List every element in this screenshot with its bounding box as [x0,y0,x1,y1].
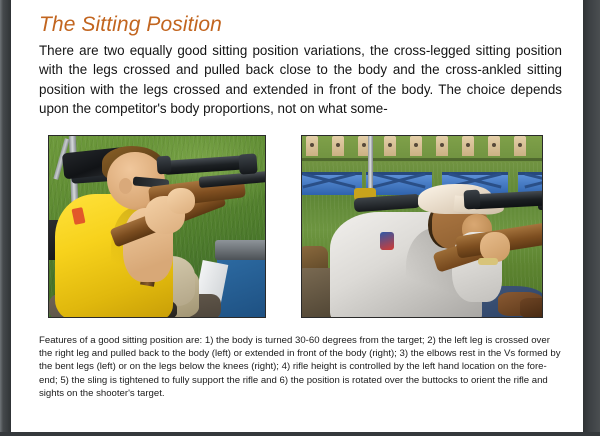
shooter-ear [119,178,132,194]
rifle-scope-eyepiece [156,156,171,175]
document-viewer: The Sitting Position There are two equal… [0,0,600,436]
body-paragraph: There are two equally good sitting posit… [39,41,562,119]
figure-cross-legged-sitting [48,135,266,318]
figure-image-right [302,136,542,317]
viewer-left-border [0,0,11,436]
sweatshirt-patch [380,232,394,250]
rifle-scope-eyepiece-right [464,190,481,210]
page-title: The Sitting Position [39,13,222,37]
viewer-bottom-border [0,432,600,436]
viewer-right-scrollbar[interactable] [583,0,600,436]
cooler-lid [215,240,265,260]
target-line-shadow [302,158,542,161]
figure-image-left [49,136,265,317]
shooter-hand [167,188,195,214]
shooter-boot-sole [520,298,542,317]
wristwatch [478,258,498,265]
rifle-scope-objective [238,153,257,174]
figure-cross-ankled-sitting [301,135,543,318]
figure-row [48,135,532,318]
downrange-target-frames [302,136,542,160]
figure-caption: Features of a good sitting position are:… [39,334,562,400]
document-page: The Sitting Position There are two equal… [11,0,583,432]
